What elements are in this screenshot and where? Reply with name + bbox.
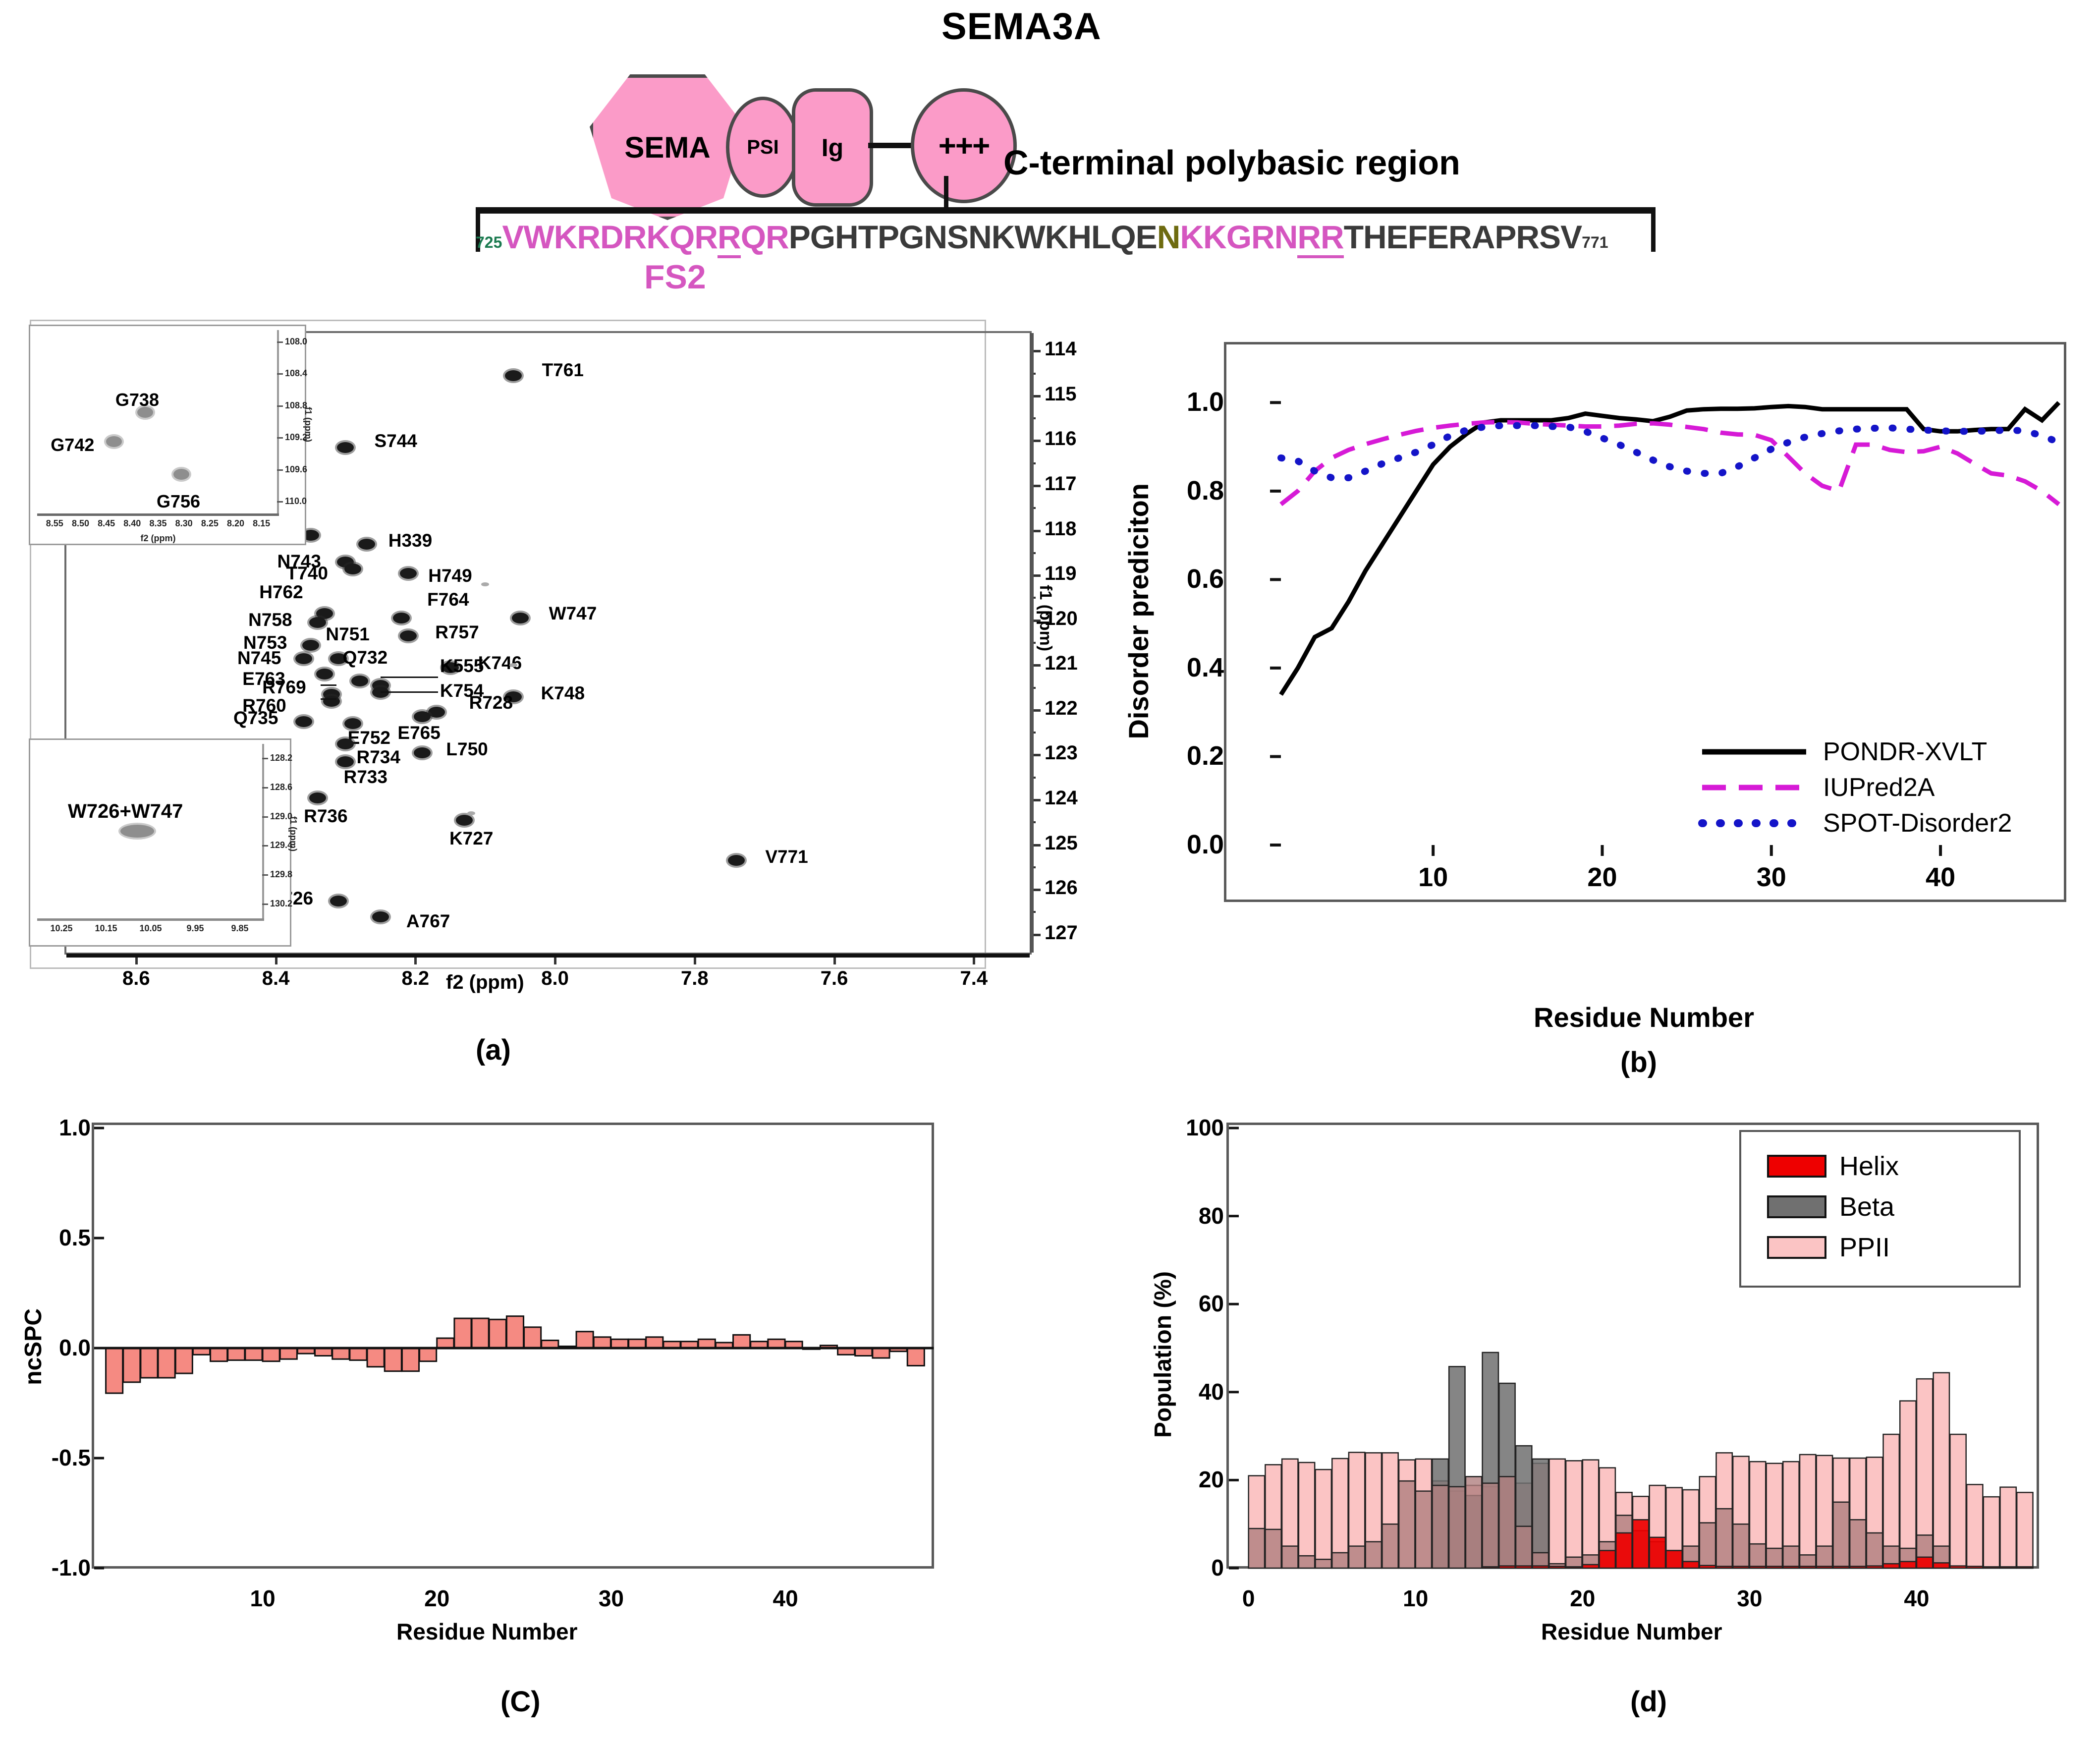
inset-peak-label: G738 [115,390,159,410]
nmr-peak [295,653,312,664]
panel-d-bar-helix [1833,1566,1849,1568]
nmr-peak [505,370,522,381]
inset2-xtick-label: 10.25 [46,923,77,934]
sema3a-schematic: SEMA3A SEMA PSI Ig +++ C-terminal polyba… [0,0,2100,307]
panel-b-yaxis-label: Disorder prediciton [1122,483,1155,739]
inset-ytick-label: 108.4 [285,368,307,379]
panel-d-legend-item: PPII [1767,1232,2015,1263]
nmr-peak-label: L750 [446,739,488,760]
panel-c-bar [175,1348,192,1373]
panel-d-bar-overlap [1382,1524,1398,1568]
panel-c-bar [629,1339,646,1348]
figure-title: SEMA3A [941,5,1102,48]
panel-c-xaxis-label: Residue Number [396,1618,578,1645]
panel-d-bar-helix [1633,1520,1649,1568]
panel-d-bar-helix [1817,1566,1832,1568]
panel-d-bar-helix [1850,1566,1866,1568]
panel-d-legend-label: Helix [1839,1151,1899,1182]
panel-c-bar [420,1348,437,1361]
panel-d-bar-overlap [1733,1524,1749,1568]
nmr-peak [372,911,389,922]
panel-b-legend-item: IUPred2A [1697,772,2044,803]
inset-xtick-label: 8.15 [249,518,275,529]
inset-yaxis-label: f1 (ppm) [303,407,313,442]
inset2-ytick [262,904,268,905]
seq-seg-3: PGHTPGNSNKWKHLQE [789,219,1157,255]
inset2-peak-label: W726+W747 [68,800,183,823]
panel-d-bar-overlap [1516,1526,1532,1568]
nmr-ytick-label: 126 [1045,877,1078,899]
panel-c-xtick-label: 20 [402,1585,472,1612]
inset-yaxis [277,330,279,513]
panel-d-bar-overlap [1366,1542,1382,1568]
inset2-ytick [262,845,268,847]
panel-b-tag: (b) [1620,1046,1657,1079]
panel-d-bar-ppii [1950,1434,1966,1568]
panel-c-bar [472,1318,489,1348]
nmr-peak [456,815,473,826]
panel-c-bar [332,1348,349,1359]
nmr-ytick-label: 123 [1045,742,1078,764]
inset-xtick-label: 8.25 [197,518,222,529]
nmr-peak-label: K748 [541,683,585,704]
inset2-ytick [262,758,268,759]
nmr-xtick-label: 8.4 [255,967,297,990]
panel-d-bar-overlap [1432,1485,1448,1568]
nmr-ytick-label: 121 [1045,652,1078,675]
panel-d-bar-ppii [1549,1459,1565,1568]
panel-d-bar-ppii [1800,1455,1816,1568]
inset-xtick-label: 8.50 [67,518,93,529]
inset-xtick-label: 8.30 [171,518,197,529]
nmr-peak-label: F764 [427,589,469,610]
panel-d-bar-ppii [1984,1497,1999,1568]
panel-c-xtick-label: 10 [228,1585,297,1612]
panel-d-ytick-label: 0 [1160,1554,1224,1581]
panel-a-tag: (a) [476,1033,511,1067]
panel-c-yaxis-label: ncSPC [20,1308,47,1385]
nmr-peak [344,564,361,574]
panel-d-bar-helix [1750,1566,1766,1568]
inset2-ytick-label: 128.6 [270,782,292,792]
panel-d-bar-overlap [1449,1487,1465,1568]
panel-d-bar-ppii [1299,1463,1315,1568]
nmr-xtick-label: 8.6 [115,967,157,990]
panel-d-bar-overlap [1700,1523,1715,1568]
nmr-ytick-label: 119 [1045,563,1077,585]
panel-d-bar-overlap [1767,1548,1782,1568]
inset2-xaxis [37,918,264,921]
panel-c-ytick-label: 1.0 [27,1114,91,1141]
nmr-ytick-label: 124 [1045,787,1078,809]
seq-seg-0: VWKRDRKQR [502,219,718,255]
panel-d-bar-helix [1934,1563,1949,1568]
inset2-yaxis [262,744,264,918]
panel-b-xaxis-label: Residue Number [1534,1001,1754,1033]
panel-d-bar-helix [1600,1550,1615,1568]
panel-d-bar-overlap [1316,1559,1331,1568]
domain-ig: Ig [792,88,873,207]
nmr-peak-label: E763 [242,669,285,689]
panel-d-bar-helix [1700,1566,1715,1568]
panel-b-xtick-label: 40 [1906,862,1975,893]
inset-peak [106,436,122,447]
panel-b-xtick-label: 20 [1567,862,1637,893]
panel-b-ytick-label: 0.0 [1155,829,1224,860]
panel-c-bar [106,1348,123,1393]
panel-d-bar-helix [1683,1562,1699,1568]
panel-c-bar [698,1339,715,1348]
panel-d-bar-helix [1483,1567,1498,1568]
inset2-xtick-label: 10.05 [135,923,166,934]
panel-c-bar [402,1348,419,1371]
nmr-xaxis-line [66,954,1030,958]
panel-b-legend-swatch [1697,778,1811,797]
panel-d-bar-overlap [1867,1533,1882,1568]
panel-d-bar-helix [1867,1566,1882,1568]
panel-b-ytick-label: 0.6 [1155,564,1224,594]
inset-xaxis [37,513,279,516]
panel-c-bar [280,1348,297,1359]
panel-c-bar [733,1335,750,1348]
nmr-xtick-label: 7.6 [814,967,855,990]
domain-psi-label: PSI [747,136,778,159]
panel-d-bar-helix [1883,1564,1899,1568]
nmr-peak-label: A767 [406,911,450,932]
inset2-xtick-label: 9.85 [224,923,256,934]
inset-xtick-label: 8.35 [145,518,171,529]
panel-d-bar-helix [1917,1557,1933,1568]
nmr-peak-label: Q735 [233,708,278,729]
panel-d-legend-item: Beta [1767,1191,2015,1222]
nmr-peak-label: H749 [428,565,472,586]
panel-d-ytick-label: 20 [1160,1466,1224,1493]
panel-c-bar [768,1339,785,1348]
panel-d-bar-helix [1900,1562,1916,1568]
inset-ytick [277,341,283,343]
seq-seg-2: QR [741,219,789,255]
panel-d-bar-helix [1566,1567,1582,1568]
panel-d-bar-helix [1783,1566,1799,1568]
inset-xtick-label: 8.40 [119,518,145,529]
seq-seg-7: THEFERAPRSV [1344,219,1582,255]
panel-b-legend-label: SPOT-Disorder2 [1823,808,2012,838]
inset2-ytick [262,787,268,789]
domain-sema: SEMA [590,74,745,220]
panel-d-bar-overlap [1416,1491,1432,1568]
nmr-leader-line [321,698,336,700]
panel-d-ytick-label: 80 [1160,1202,1224,1229]
panel-c-bar [385,1348,401,1371]
nmr-ytick-label: 116 [1045,428,1077,450]
panel-d-legend-swatch [1767,1236,1826,1259]
nmr-leader-line [381,677,438,678]
panel-d-bar-overlap [1483,1483,1498,1568]
nmr-xtick-label: 8.2 [394,967,436,990]
c-terminal-region-label: C-terminal polybasic region [1003,143,1460,182]
panel-c-ncspc-plot: -1.0-0.50.00.51.010203040 [92,1123,934,1569]
inset-xtick-label: 8.45 [94,518,119,529]
panel-d-bar-overlap [1466,1476,1482,1568]
panel-d-xaxis-label: Residue Number [1541,1618,1722,1645]
inset2-ytick [262,874,268,876]
inset2-xtick-label: 10.15 [90,923,122,934]
nmr-xtick-label: 7.4 [953,967,995,990]
nmr-xtick-label: 8.0 [534,967,576,990]
panel-c-bar [437,1338,454,1348]
nmr-peak-label: K727 [449,828,493,849]
panel-d-bar-ppii [1934,1373,1949,1568]
panel-b-ytick-label: 0.4 [1155,652,1224,683]
panel-d-legend-label: PPII [1839,1232,1890,1263]
panel-d-bar-overlap [1332,1553,1348,1568]
nmr-peak-label: E752 [348,728,390,748]
nmr-xtick-label: 7.8 [674,967,716,990]
inset-xtick-label: 8.55 [42,518,67,529]
domain-psi: PSI [726,97,800,198]
panel-b-ytick-label: 1.0 [1155,387,1224,417]
panel-c-bar [245,1348,262,1360]
panel-a-nmr-spectrum: 1141151161171181191201211221231241251261… [39,327,980,952]
panel-d-legend-label: Beta [1839,1191,1894,1222]
nmr-ytick-label: 117 [1045,473,1077,495]
panel-c-xtick-label: 30 [576,1585,646,1612]
panel-d-yaxis-label: Population (%) [1150,1271,1177,1438]
panel-d-tag: (d) [1630,1685,1667,1718]
nmr-ytick-label: 114 [1045,338,1077,360]
nmr-peak [323,696,340,707]
inset2-peak [120,825,154,838]
nmr-peak-label: N751 [326,624,369,645]
seq-seg-1: R [718,219,741,258]
nmr-peak-label: R728 [469,692,513,713]
nmr-leader-line [321,684,336,686]
inset2-xtick-label: 9.95 [179,923,211,934]
panel-d-bar-helix [1733,1566,1749,1568]
panel-d-bar-helix [1533,1566,1548,1568]
panel-d-bar-helix [2017,1567,2033,1568]
inset-peak [173,469,189,480]
panel-c-bar [646,1337,663,1348]
nmr-peak-label: T761 [542,360,584,381]
nmr-peak [512,613,529,623]
panel-b-disorder-plot: 0.00.20.40.60.81.010203040PONDR-XVLTIUPr… [1224,342,2066,902]
nmr-peak [330,896,347,906]
panel-b-legend-swatch [1697,742,1811,762]
panel-d-bar-overlap [1399,1481,1415,1568]
inset-ytick [277,405,283,407]
nmr-ytick-label: 125 [1045,832,1078,854]
panel-d-bar-overlap [1833,1502,1849,1568]
panel-d-legend: HelixBetaPPII [1739,1130,2021,1288]
brace-pointer [944,176,948,209]
inset2-ytick-label: 130.2 [270,899,292,909]
panel-c-bar [263,1348,279,1361]
nmr-peak-label: E765 [397,723,440,743]
panel-b-legend-label: PONDR-XVLT [1823,737,1987,767]
panel-d-legend-item: Helix [1767,1151,2015,1182]
panel-d-legend-swatch [1767,1195,1826,1218]
panel-d-bar-helix [2000,1567,2016,1568]
nmr-inset-glycine: 108.0108.4108.8109.2109.6110.08.558.508.… [29,325,306,545]
panel-c-ytick-label: 0.5 [27,1224,91,1251]
nmr-ytick-label: 118 [1045,518,1077,540]
nmr-ytick-label: 127 [1045,922,1078,944]
panel-d-bar-ppii [1316,1469,1331,1568]
nmr-peak-label: S744 [374,431,417,452]
inset-ytick [277,437,283,439]
construct-label-fs2: FS2 [644,258,706,296]
panel-c-bar [489,1319,506,1348]
panel-c-bar [141,1348,158,1378]
panel-d-bar-overlap [1265,1529,1281,1568]
inset-xaxis-label: f2 (ppm) [133,533,183,544]
inset-peak-label: G756 [157,491,200,512]
panel-c-tag: (C) [500,1685,541,1718]
panel-b-ytick-label: 0.2 [1155,740,1224,771]
panel-c-bar [367,1348,384,1367]
nmr-peak [295,716,312,727]
panel-c-bar [907,1348,924,1366]
inset2-ytick [262,816,268,818]
seq-seg-6: RR [1297,219,1343,258]
panel-d-bar-ppii [2000,1487,2016,1568]
panel-c-svg [94,1125,937,1571]
inset2-ytick-label: 129.8 [270,869,292,880]
panel-b-legend-item: SPOT-Disorder2 [1697,807,2044,839]
panel-d-bar-ppii [1900,1401,1916,1568]
panel-c-bar [228,1348,245,1360]
panel-d-bar-ppii [1583,1460,1599,1568]
panel-d-population-plot: 020406080100010203040HelixBetaPPII [1226,1123,2039,1569]
panel-d-bar-helix [1716,1566,1732,1568]
panel-d-ytick-label: 100 [1160,1114,1224,1141]
panel-c-bar [873,1348,889,1358]
nmr-peak-label: H339 [388,530,432,551]
inset2-ytick-label: 128.2 [270,753,292,763]
nmr-peak-label: N745 [237,648,281,669]
panel-d-bar-helix [1967,1566,1983,1568]
panel-b-line-PONDR-XVLT [1281,402,2059,694]
panel-d-bar-ppii [1332,1459,1348,1568]
panel-b-legend-label: IUPred2A [1823,773,1934,802]
panel-d-bar-helix [1800,1566,1816,1568]
panel-d-bar-helix [1984,1567,1999,1568]
inset2-yaxis-label: f1 (ppm) [288,816,298,851]
panel-d-bar-helix [1950,1566,1966,1568]
nmr-ytick-label: 122 [1045,697,1078,720]
domain-polybasic: +++ [911,88,1017,203]
panel-d-bar-overlap [1249,1528,1265,1568]
brace-top-bar [476,207,1655,214]
panel-c-bar [454,1318,471,1348]
panel-d-bar-overlap [1282,1546,1298,1568]
domain-sema-label: SEMA [624,130,710,165]
panel-d-bar-helix [1583,1565,1599,1568]
inset-ytick-label: 110.0 [285,496,307,507]
nmr-peak-label: H762 [259,582,303,603]
panel-c-bar [594,1337,610,1348]
nmr-peak [358,539,375,550]
nmr-peak [400,568,417,579]
panel-d-bar-overlap [1850,1520,1866,1568]
panel-d-bar-overlap [1783,1546,1799,1568]
panel-d-bar-ppii [1967,1484,1983,1568]
nmr-peak [309,792,326,803]
nmr-peak [351,676,368,686]
nmr-peak [302,640,319,651]
panel-b-ytick-label: 0.8 [1155,475,1224,506]
panel-d-bar-helix [1616,1533,1632,1568]
sequence-end-number: 771 [1582,233,1608,251]
panel-c-bar [211,1348,227,1361]
panel-c-bar [350,1348,367,1360]
inset-ytick [277,373,283,375]
panel-d-xtick-label: 20 [1548,1585,1617,1612]
seq-seg-5: KKGRN [1180,219,1297,255]
panel-d-xtick-label: 0 [1214,1585,1283,1612]
seq-seg-4: N [1157,219,1180,255]
panel-d-bar-overlap [1299,1556,1315,1568]
inset-xtick-label: 8.20 [223,518,249,529]
inset-ytick-label: 109.6 [285,464,307,475]
panel-d-bar-helix [1666,1550,1682,1568]
nmr-peak-label: R734 [356,747,400,768]
panel-d-legend-swatch [1767,1155,1826,1178]
inset-peak-label: G742 [51,435,94,455]
nmr-ytick-label: 115 [1045,383,1077,405]
panel-d-xtick-label: 30 [1715,1585,1784,1612]
panel-c-bar [158,1348,175,1378]
nmr-peak-label: Q732 [343,647,388,668]
panel-d-xtick-label: 40 [1882,1585,1951,1612]
panel-b-legend: PONDR-XVLTIUPred2ASPOT-Disorder2 [1697,736,2044,850]
panel-c-ytick-label: -0.5 [27,1444,91,1471]
panel-d-bar-helix [1549,1566,1565,1568]
panel-c-bar [576,1332,593,1348]
nmr-peak-label: R757 [435,622,479,643]
panel-b-legend-item: PONDR-XVLT [1697,736,2044,768]
nmr-peak-label: N758 [248,610,292,630]
panel-d-bar-helix [1516,1566,1532,1568]
panel-d-bar-overlap [1750,1544,1766,1568]
domain-polybasic-label: +++ [939,128,990,164]
panel-d-bar-helix [1767,1566,1782,1568]
panel-c-bar [524,1327,541,1348]
panel-c-bar [123,1348,140,1382]
panel-c-bar [611,1339,628,1348]
nmr-inset-tryptophan: 128.2128.6129.0129.4129.8130.210.2510.15… [29,738,291,947]
panel-d-bar-helix [1650,1537,1665,1568]
panel-b-legend-swatch [1697,813,1811,833]
panel-c-xtick-label: 40 [751,1585,820,1612]
panel-d-bar-overlap [1349,1546,1365,1568]
panel-d-bar-ppii [1566,1461,1582,1568]
nmr-yaxis-line [1030,333,1034,953]
panel-b-xtick-label: 10 [1398,862,1468,893]
nmr-peak-label: R733 [343,767,387,788]
inset-ytick-label: 108.0 [285,337,307,347]
panel-d-xtick-label: 10 [1381,1585,1450,1612]
panel-d-bar-overlap [1716,1509,1732,1568]
inset-ytick [277,469,283,471]
inset-ytick [277,501,283,503]
panel-a-yaxis-label: f1 (ppm) [1036,585,1055,651]
nmr-peak-label: R736 [304,806,347,827]
panel-c-ytick-label: -1.0 [27,1554,91,1581]
nmr-leader-line [381,691,438,693]
panel-d-bar-overlap [1817,1546,1832,1568]
